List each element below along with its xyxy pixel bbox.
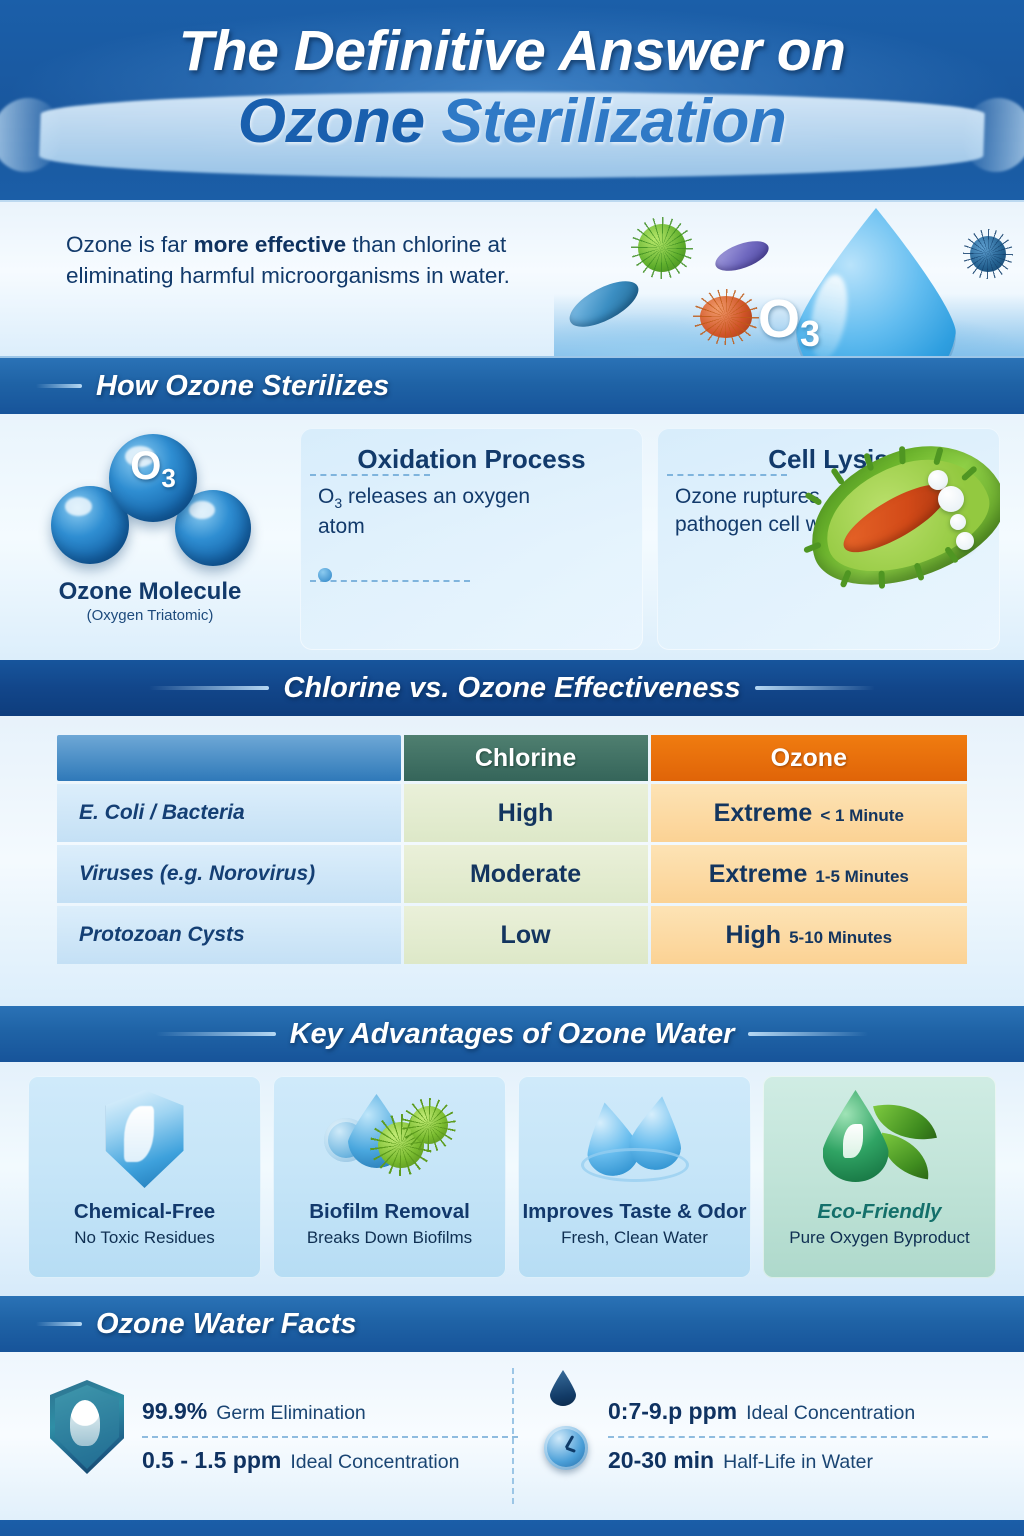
droplet-o-letter: O	[758, 289, 800, 349]
green-virus-icon	[638, 224, 686, 272]
cell-chlorine-viruses: Moderate	[404, 845, 648, 903]
leaf-drop-icon	[817, 1088, 943, 1192]
biofilm-icon	[320, 1092, 460, 1192]
page-title-line1: The Definitive Answer on	[0, 0, 1024, 84]
advantage-card-taste-odor: Improves Taste & Odor Fresh, Clean Water	[518, 1076, 751, 1278]
panel-cell-lysis: Cell Lysis Ozone ruptures pathogen cell …	[657, 428, 1000, 650]
section-header-comparison: Chlorine vs. Ozone Effectiveness	[0, 660, 1024, 716]
facts-content: 99.9% Germ Elimination 0.5 - 1.5 ppm Ide…	[0, 1352, 1024, 1520]
table-header-row: Chlorine Ozone	[57, 735, 967, 781]
cell-ozone-ecoli: Extreme< 1 Minute	[651, 784, 967, 842]
cell-ozone-protozoan: High5-10 Minutes	[651, 906, 967, 964]
advantage-title-taste-odor: Improves Taste & Odor	[522, 1200, 746, 1224]
facts-column-right: 0:7-9.p ppm Ideal Concentration 20-30 mi…	[532, 1364, 998, 1508]
table-header-ozone: Ozone	[651, 735, 967, 781]
ozone-time-viruses: 1-5 Minutes	[815, 867, 909, 886]
table-row: Protozoan Cysts Low High5-10 Minutes	[57, 906, 967, 964]
comparison-table-wrapper: Chlorine Ozone E. Coli / Bacteria High E…	[0, 716, 1024, 1006]
footer-banner: Ozone: The Chemical-Free Solution for Sa…	[0, 1520, 1024, 1536]
fact-value-half-life: 20-30 min	[608, 1447, 714, 1474]
section-header-how-ozone-sterilizes: How Ozone Sterilizes	[0, 358, 1024, 414]
table-header-blank	[57, 735, 401, 781]
section-title-facts: Ozone Water Facts	[96, 1308, 357, 1341]
oxidation-3-subscript: 3	[334, 495, 342, 511]
green-virus-icon	[410, 1106, 448, 1144]
row-label-protozoan: Protozoan Cysts	[57, 906, 401, 964]
ozone-time-ecoli: < 1 Minute	[820, 806, 904, 825]
cell-chlorine-ecoli: High	[404, 784, 648, 842]
intro-text: Ozone is far more effective than chlorin…	[66, 230, 566, 292]
intro-band: Ozone is far more effective than chlorin…	[0, 200, 1024, 358]
page-title-word-ozone: Ozone	[238, 87, 442, 156]
dash-decoration-left-advantages	[156, 1032, 276, 1036]
section-header-facts: Ozone Water Facts	[0, 1296, 1024, 1352]
row-label-viruses: Viruses (e.g. Norovirus)	[57, 845, 401, 903]
advantage-icon-wrap	[279, 1086, 500, 1198]
fact-ideal-concentration-right: 0:7-9.p ppm Ideal Concentration	[608, 1398, 998, 1425]
page-title-word-sterilization: Sterilization	[441, 87, 786, 156]
fact-germ-elimination: 99.9% Germ Elimination	[142, 1398, 532, 1425]
panel-title-oxidation: Oxidation Process	[318, 444, 625, 475]
intro-text-emphasis: more effective	[194, 232, 347, 257]
ripple-ring-decoration	[581, 1148, 689, 1182]
advantage-title-chemical-free: Chemical-Free	[74, 1200, 215, 1224]
ozone-level-ecoli: Extreme	[714, 799, 813, 827]
row-label-ecoli: E. Coli / Bacteria	[57, 784, 401, 842]
purple-rod-bacteria-icon	[712, 235, 773, 277]
droplet-3-subscript: 3	[800, 313, 820, 354]
shield-icon	[50, 1380, 124, 1474]
cell-chlorine-protozoan: Low	[404, 906, 648, 964]
molecule-o3-label: O3	[109, 444, 197, 494]
dash-decoration-left	[36, 384, 82, 388]
advantage-subtitle-eco-friendly: Pure Oxygen Byproduct	[789, 1228, 969, 1248]
dash-decoration-right-comparison	[755, 686, 875, 690]
clock-icon	[544, 1426, 588, 1470]
section-title-advantages: Key Advantages of Ozone Water	[290, 1018, 735, 1051]
advantage-card-eco-friendly: Eco-Friendly Pure Oxygen Byproduct	[763, 1076, 996, 1278]
oxidation-body-text: releases an oxygen atom	[318, 485, 530, 538]
fact-label-half-life: Half-Life in Water	[723, 1451, 873, 1474]
oxidation-o-letter: O	[318, 485, 334, 508]
dashed-connector-top	[310, 474, 430, 476]
dash-decoration-left-facts	[36, 1322, 82, 1326]
dash-decoration-left-comparison	[149, 686, 269, 690]
cell-ozone-viruses: Extreme1-5 Minutes	[651, 845, 967, 903]
infographic-poster: The Definitive Answer on Ozone Steriliza…	[0, 0, 1024, 1536]
table-row: Viruses (e.g. Norovirus) Moderate Extrem…	[57, 845, 967, 903]
facts-column-left: 99.9% Germ Elimination 0.5 - 1.5 ppm Ide…	[26, 1364, 532, 1508]
molecule-subname: (Oxygen Triatomic)	[14, 607, 286, 624]
hero-header: The Definitive Answer on Ozone Steriliza…	[0, 0, 1024, 200]
table-row: E. Coli / Bacteria High Extreme< 1 Minut…	[57, 784, 967, 842]
dashed-rule-left	[142, 1436, 518, 1438]
advantage-icon-wrap	[769, 1086, 990, 1198]
water-drops-icon	[575, 1092, 695, 1192]
advantage-subtitle-taste-odor: Fresh, Clean Water	[561, 1228, 708, 1248]
advantage-icon-wrap	[34, 1086, 255, 1198]
advantage-title-biofilm-removal: Biofilm Removal	[309, 1200, 470, 1224]
molecule-3-subscript: 3	[161, 463, 175, 493]
fact-label-germ-elimination: Germ Elimination	[216, 1402, 366, 1425]
ozone-molecule-block: O3 Ozone Molecule (Oxygen Triatomic)	[14, 428, 286, 650]
molecule-name: Ozone Molecule	[14, 578, 286, 606]
ozone-level-viruses: Extreme	[709, 860, 808, 888]
fact-value-germ-elimination: 99.9%	[142, 1398, 207, 1425]
ozone-level-protozoan: High	[726, 921, 782, 949]
dashed-connector-bottom	[310, 580, 470, 582]
effectiveness-table: Chlorine Ozone E. Coli / Bacteria High E…	[54, 732, 970, 967]
intro-text-part1: Ozone is far	[66, 232, 194, 257]
mini-molecule-icon	[318, 568, 332, 582]
how-ozone-sterilizes-content: O3 Ozone Molecule (Oxygen Triatomic) Oxi…	[0, 414, 1024, 660]
ozone-time-protozoan: 5-10 Minutes	[789, 928, 892, 947]
fact-label-ideal-concentration-left: Ideal Concentration	[290, 1451, 459, 1474]
section-title-comparison: Chlorine vs. Ozone Effectiveness	[283, 672, 740, 705]
intro-illustration: O3	[554, 202, 1024, 356]
panel-oxidation-process: Oxidation Process O3 releases an oxygen …	[300, 428, 643, 650]
table-header-chlorine: Chlorine	[404, 735, 648, 781]
dark-blue-virus-icon	[970, 236, 1006, 272]
section-title-how: How Ozone Sterilizes	[96, 370, 389, 403]
advantage-title-eco-friendly: Eco-Friendly	[817, 1200, 941, 1224]
dashed-connector-lysis	[667, 474, 787, 476]
section-header-advantages: Key Advantages of Ozone Water	[0, 1006, 1024, 1062]
droplet-icon	[550, 1370, 576, 1406]
panel-body-oxidation: O3 releases an oxygen atom	[318, 483, 533, 540]
advantage-card-chemical-free: Chemical-Free No Toxic Residues	[28, 1076, 261, 1278]
shield-icon	[106, 1090, 184, 1188]
dash-decoration-right-advantages	[748, 1032, 868, 1036]
advantage-subtitle-chemical-free: No Toxic Residues	[74, 1228, 214, 1248]
fact-ideal-concentration-left: 0.5 - 1.5 ppm Ideal Concentration	[142, 1447, 532, 1474]
fact-value-ideal-concentration-left: 0.5 - 1.5 ppm	[142, 1447, 281, 1474]
fact-half-life: 20-30 min Half-Life in Water	[608, 1447, 998, 1474]
droplet-o3-label: O3	[554, 288, 1024, 355]
dashed-rule-right	[608, 1436, 988, 1438]
advantage-subtitle-biofilm-removal: Breaks Down Biofilms	[307, 1228, 472, 1248]
fact-label-ideal-concentration-right: Ideal Concentration	[746, 1402, 915, 1425]
advantage-icon-wrap	[524, 1086, 745, 1198]
advantages-cards: Chemical-Free No Toxic Residues Biofilm …	[0, 1062, 1024, 1296]
green-drop-shape	[823, 1090, 889, 1182]
ozone-molecule-icon: O3	[35, 434, 265, 574]
molecule-o-letter: O	[130, 444, 161, 488]
page-title-line2: Ozone Sterilization	[0, 86, 1024, 157]
advantage-card-biofilm-removal: Biofilm Removal Breaks Down Biofilms	[273, 1076, 506, 1278]
fact-value-ideal-concentration-right: 0:7-9.p ppm	[608, 1398, 737, 1425]
